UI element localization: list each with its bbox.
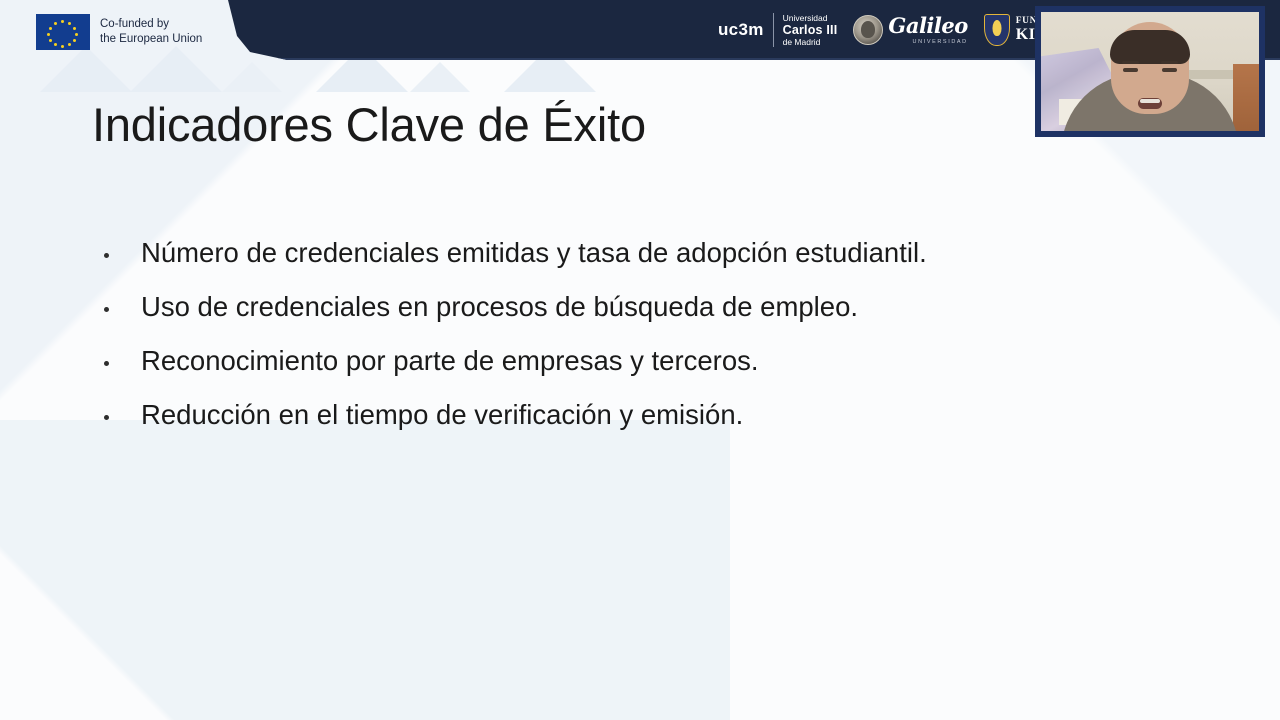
chevron-watermark (130, 46, 222, 92)
galileo-portrait-icon (853, 15, 883, 45)
european-union-flag-icon (36, 14, 90, 50)
bullet-list: Número de credenciales emitidas y tasa d… (104, 238, 1194, 454)
eu-funding-line1: Co-funded by (100, 18, 169, 30)
galileo-logo: Galileo UNIVERSIDAD (853, 15, 967, 45)
partner-logo-strip: uc3m Universidad Carlos III de Madrid Ga… (718, 9, 1072, 51)
uc3m-logo: uc3m Universidad Carlos III de Madrid (718, 13, 837, 48)
galileo-text: Galileo UNIVERSIDAD (888, 15, 967, 45)
shield-flame-icon (984, 14, 1010, 46)
list-item: Reducción en el tiempo de verificación y… (104, 400, 1194, 454)
presenter-eye (1123, 68, 1138, 72)
galileo-subtitle: UNIVERSIDAD (888, 39, 967, 45)
presenter-video-overlay[interactable] (1035, 6, 1265, 137)
bullet-dot-icon (104, 415, 109, 420)
diagonal-band-bottom (0, 420, 730, 720)
list-item: Reconocimiento por parte de empresas y t… (104, 346, 1194, 400)
slide-title: Indicadores Clave de Éxito (92, 97, 646, 152)
uc3m-fullname: Universidad Carlos III de Madrid (783, 13, 838, 48)
logo-divider (773, 13, 774, 47)
wood-panel (1233, 64, 1259, 131)
chevron-watermark (222, 62, 282, 92)
eu-funding-emblem: Co-funded by the European Union (36, 14, 202, 50)
uc3m-wordmark: uc3m (718, 20, 764, 40)
bullet-text: Uso de credenciales en procesos de búsqu… (141, 292, 858, 322)
eu-funding-line2: the European Union (100, 33, 202, 45)
galileo-wordmark: Galileo (888, 13, 967, 38)
presenter-eyebrow (1161, 61, 1178, 64)
uc3m-line2: Carlos III (783, 23, 838, 38)
list-item: Número de credenciales emitidas y tasa d… (104, 238, 1194, 292)
list-item: Uso de credenciales en procesos de búsqu… (104, 292, 1194, 346)
bullet-text: Reconocimiento por parte de empresas y t… (141, 346, 759, 376)
presenter-eyebrow (1122, 61, 1139, 64)
bullet-dot-icon (104, 253, 109, 258)
bullet-dot-icon (104, 307, 109, 312)
eu-funding-text: Co-funded by the European Union (100, 17, 202, 46)
presenter-hair (1110, 30, 1190, 64)
bullet-text: Número de credenciales emitidas y tasa d… (141, 238, 927, 268)
presentation-slide: Co-funded by the European Union uc3m Uni… (0, 0, 1280, 720)
chevron-watermark (410, 62, 470, 92)
chevron-watermark (40, 46, 132, 92)
uc3m-line3: de Madrid (783, 37, 838, 47)
uc3m-line1: Universidad (783, 13, 838, 23)
presenter-face (1111, 22, 1189, 114)
presenter-eye (1162, 68, 1177, 72)
presenter-mouth (1138, 98, 1162, 109)
bullet-text: Reducción en el tiempo de verificación y… (141, 400, 743, 430)
bullet-dot-icon (104, 361, 109, 366)
video-frame (1041, 12, 1259, 131)
